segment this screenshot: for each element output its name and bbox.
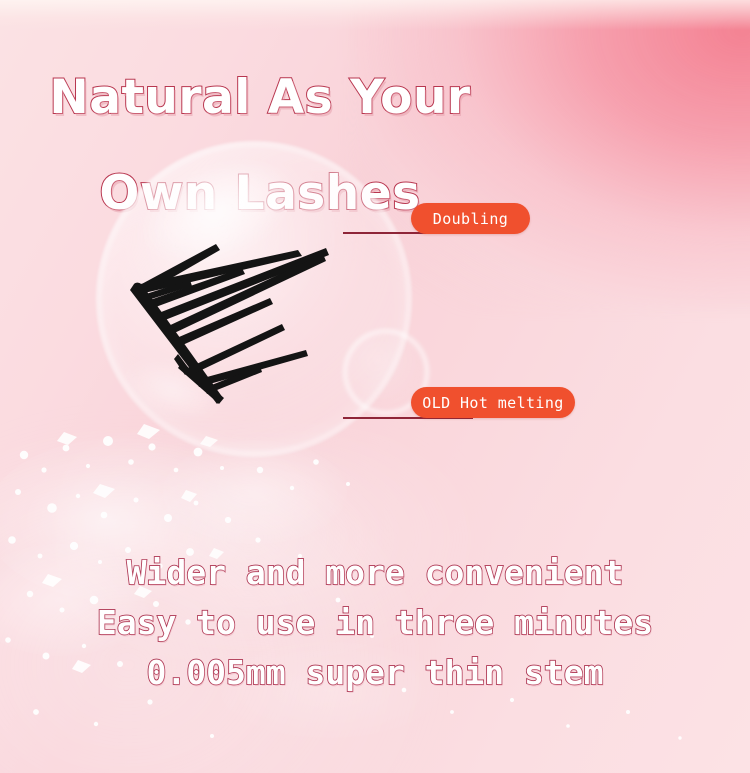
feature-list: Wider and more convenient Easy to use in… xyxy=(0,548,750,698)
page-title-line-1: Natural As Your xyxy=(0,73,520,122)
badge-old-hot-melting[interactable]: OLD Hot melting xyxy=(411,387,575,418)
feature-line-1: Wider and more convenient xyxy=(0,548,750,598)
lash-product-banner: Natural As Your Own Lashes xyxy=(0,0,750,773)
badge-doubling[interactable]: Doubling xyxy=(411,203,530,234)
eyelash-fan-icon xyxy=(120,228,350,413)
feature-line-3: 0.005mm super thin stem xyxy=(0,648,750,698)
feature-line-2: Easy to use in three minutes xyxy=(0,598,750,648)
